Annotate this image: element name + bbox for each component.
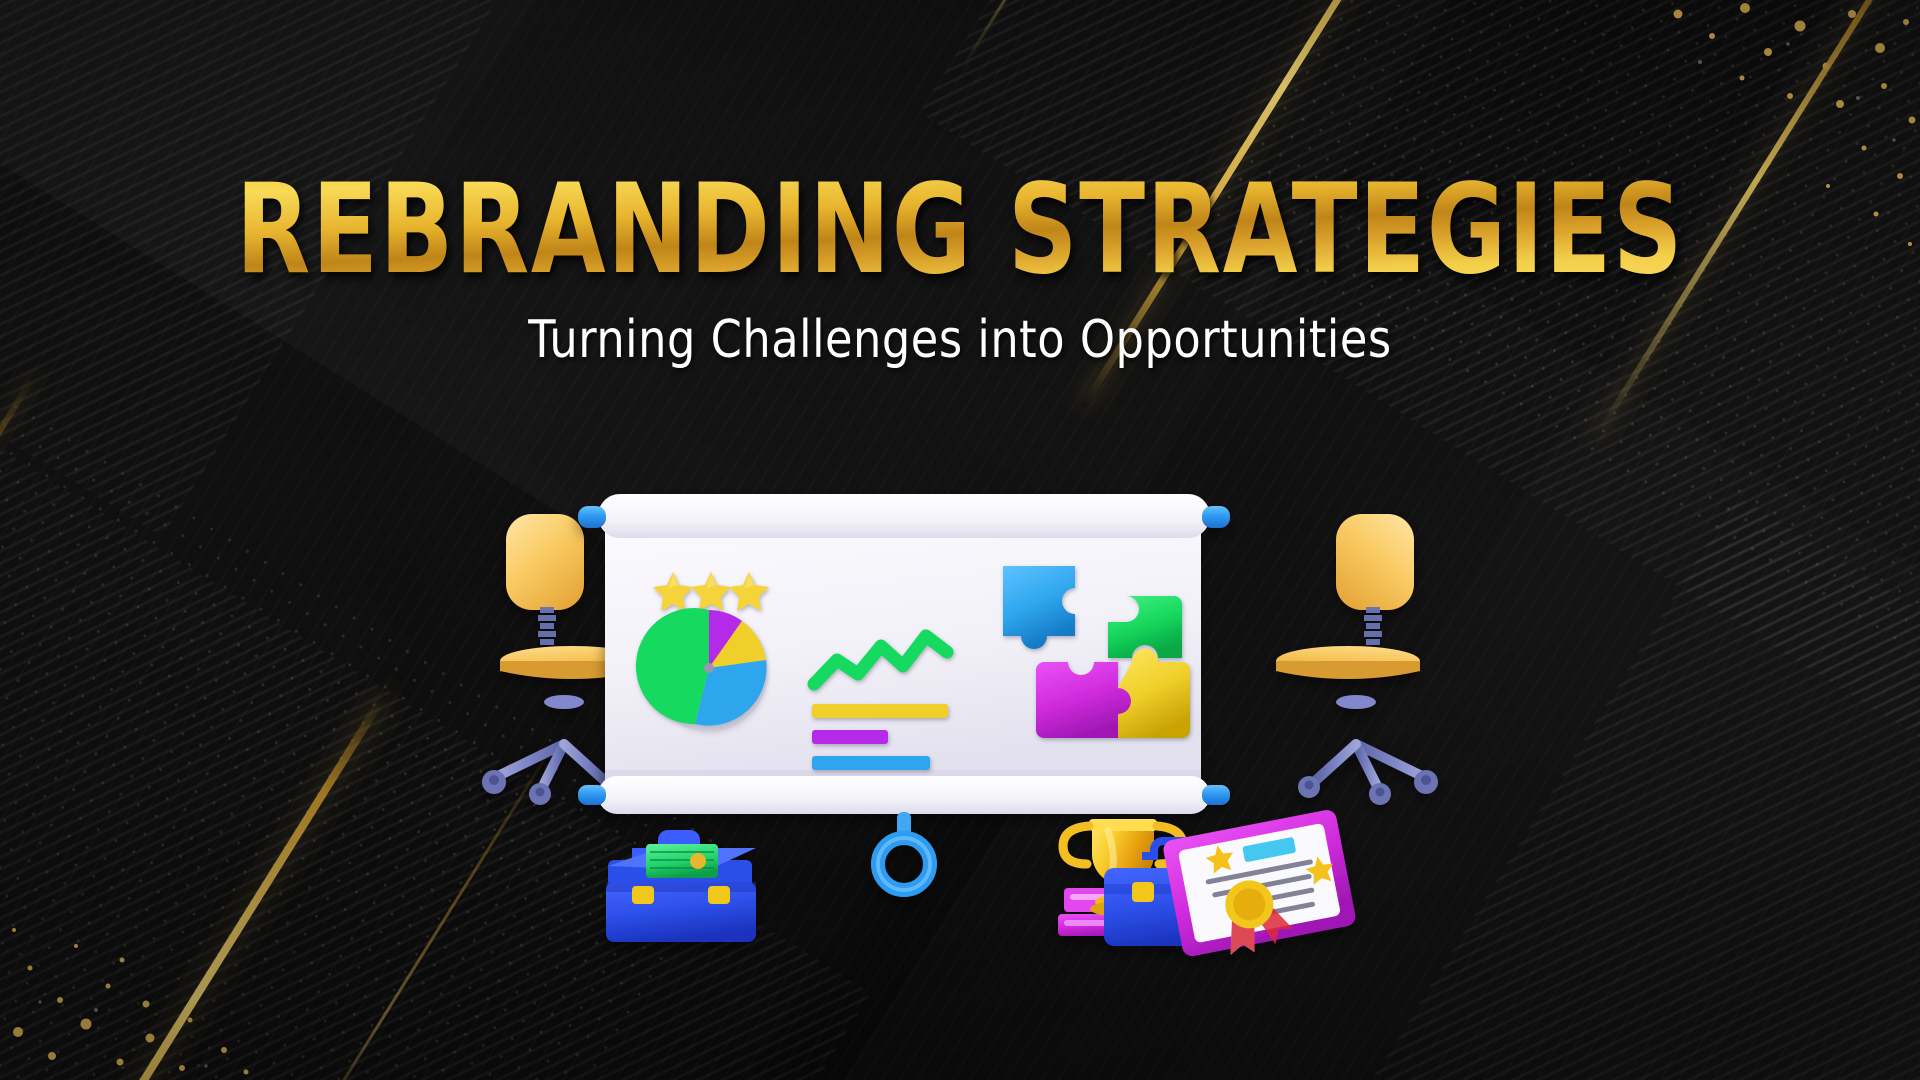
hero-banner: REBRANDING STRATEGIES Turning Challenges… bbox=[0, 0, 1920, 1080]
case-clasp-right bbox=[708, 886, 730, 904]
bar-purple bbox=[812, 730, 888, 744]
page-subtitle: Turning Challenges into Opportunities bbox=[134, 310, 1785, 370]
case-clasp bbox=[1132, 882, 1154, 902]
board-pull-ring bbox=[878, 812, 930, 890]
roller-cap-right bbox=[1202, 785, 1230, 805]
roller-cap-right bbox=[1202, 506, 1230, 528]
office-chair-right bbox=[1276, 514, 1438, 805]
case-clasp-left bbox=[632, 886, 654, 904]
bar-blue bbox=[812, 756, 930, 770]
award-cluster bbox=[1058, 808, 1359, 965]
roller-cap-left bbox=[578, 506, 606, 528]
bar-yellow bbox=[812, 704, 948, 718]
board-roller-bottom bbox=[578, 776, 1230, 814]
roller-cap-left bbox=[578, 785, 606, 805]
hero-illustration bbox=[460, 486, 1460, 1046]
page-title: REBRANDING STRATEGIES bbox=[211, 168, 1709, 292]
certificate bbox=[1162, 808, 1359, 965]
board-roller-top bbox=[578, 494, 1230, 538]
briefcase-with-money bbox=[606, 830, 756, 942]
headline-block: REBRANDING STRATEGIES Turning Challenges… bbox=[0, 168, 1920, 370]
